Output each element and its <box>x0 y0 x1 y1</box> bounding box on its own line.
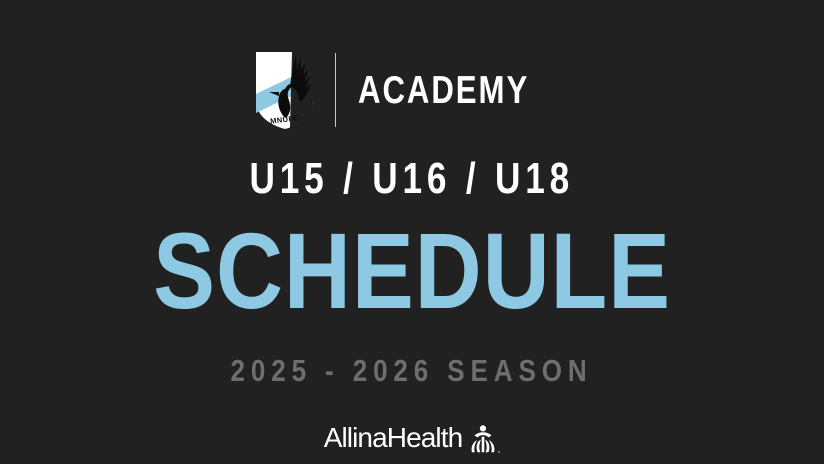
title-block: U15 / U16 / U18 SCHEDULE 2025 - 2026 SEA… <box>0 157 824 386</box>
allina-health-wordmark: AllinaHealth <box>324 424 463 452</box>
allina-health-symbol-icon: ™ <box>466 421 500 455</box>
age-groups-label: U15 / U16 / U18 <box>250 157 574 201</box>
schedule-headline: SCHEDULE <box>153 217 671 325</box>
season-label: 2025 - 2026 SEASON <box>231 355 593 386</box>
academy-label: ACADEMY <box>358 71 529 110</box>
lockup-divider <box>335 53 336 127</box>
trademark-mark: ™ <box>498 450 501 455</box>
mnufc-crest-icon: MNUFC <box>252 48 318 132</box>
sponsor-lockup: AllinaHealth ™ <box>0 421 824 455</box>
academy-lockup: MNUFC ACADEMY <box>252 44 572 136</box>
academy-schedule-poster: MNUFC ACADEMY U15 / U16 / U18 SCHEDULE 2… <box>0 0 824 464</box>
